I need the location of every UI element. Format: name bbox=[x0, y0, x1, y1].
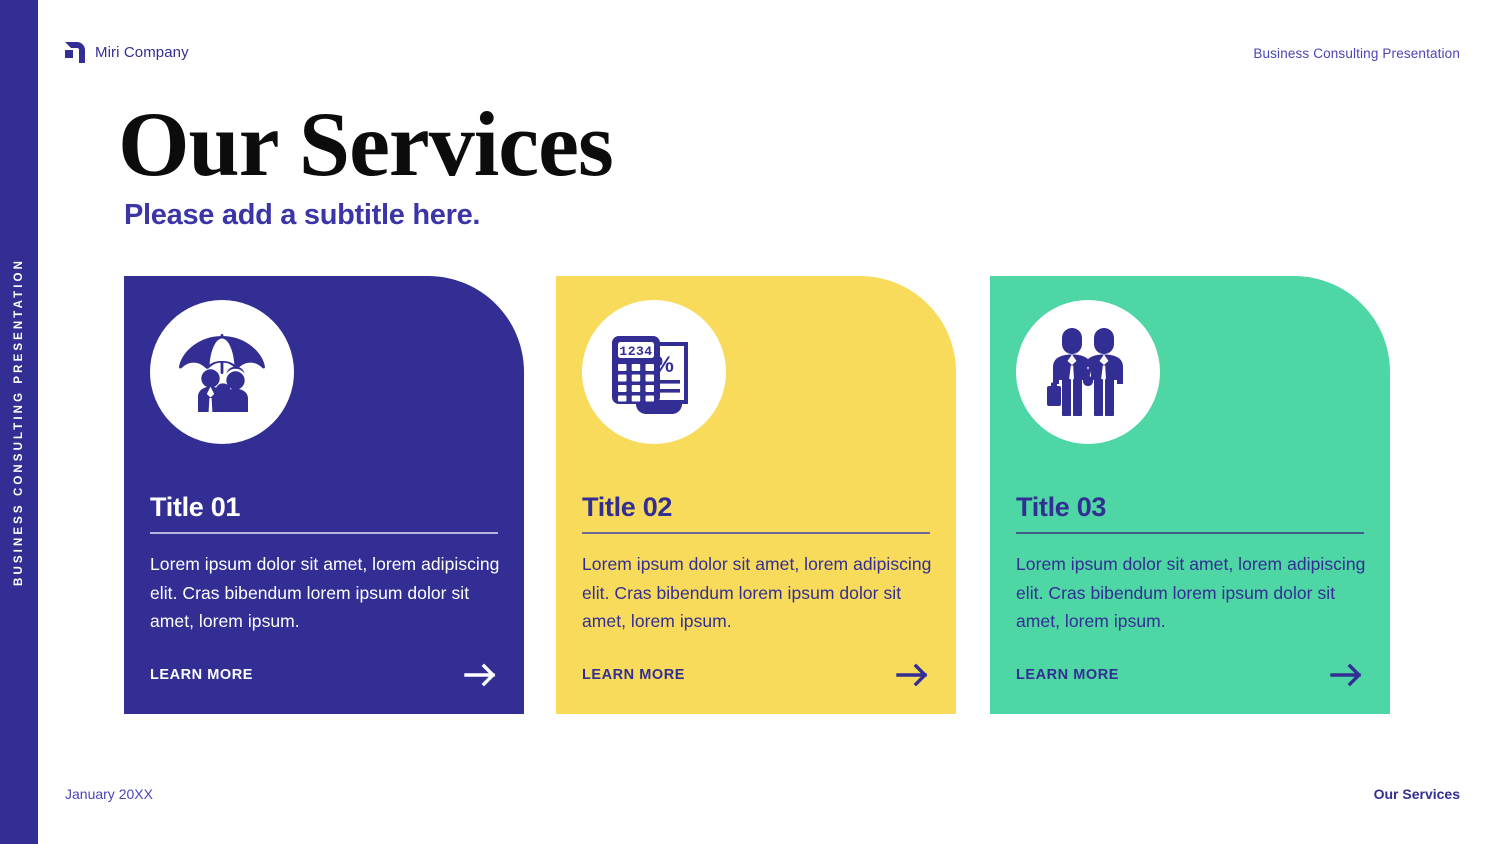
arrow-right-icon bbox=[896, 662, 930, 688]
service-card-2-title: Title 02 bbox=[582, 492, 672, 523]
arrow-right-icon bbox=[1330, 662, 1364, 688]
service-card-3-cta-label: LEARN MORE bbox=[1016, 667, 1119, 683]
service-card-1-cta-label: LEARN MORE bbox=[150, 667, 253, 683]
service-card-2-cta-label: LEARN MORE bbox=[582, 667, 685, 683]
service-card-3-cta[interactable]: LEARN MORE bbox=[1016, 662, 1364, 688]
footer-section-label: Our Services bbox=[1374, 786, 1460, 802]
service-icon-badge-2: % 1234 bbox=[582, 300, 726, 444]
service-icon-badge-1 bbox=[150, 300, 294, 444]
service-card-1[interactable]: Title 01 Lorem ipsum dolor sit amet, lor… bbox=[124, 276, 524, 714]
slide-header: Miri Company Business Consulting Present… bbox=[0, 42, 1500, 72]
brand-name-label: Miri Company bbox=[95, 44, 189, 61]
service-card-2[interactable]: % 1234 bbox=[556, 276, 956, 714]
family-umbrella-icon bbox=[172, 322, 272, 422]
service-card-1-body: Lorem ipsum dolor sit amet, lorem adipis… bbox=[150, 550, 502, 636]
page-title: Our Services bbox=[118, 98, 613, 190]
business-handshake-icon bbox=[1040, 324, 1136, 420]
service-card-1-cta[interactable]: LEARN MORE bbox=[150, 662, 498, 688]
arrow-right-icon bbox=[464, 662, 498, 688]
service-card-3-body: Lorem ipsum dolor sit amet, lorem adipis… bbox=[1016, 550, 1368, 636]
service-card-1-divider bbox=[150, 532, 498, 534]
service-card-3-divider bbox=[1016, 532, 1364, 534]
calculator-receipt-icon: % 1234 bbox=[606, 326, 702, 418]
brand-logo[interactable]: Miri Company bbox=[65, 42, 189, 63]
service-card-1-title: Title 01 bbox=[150, 492, 240, 523]
svg-text:1234: 1234 bbox=[619, 344, 652, 359]
header-subtitle: Business Consulting Presentation bbox=[1253, 46, 1460, 61]
service-card-3-title: Title 03 bbox=[1016, 492, 1106, 523]
footer-date: January 20XX bbox=[65, 786, 153, 802]
service-card-2-cta[interactable]: LEARN MORE bbox=[582, 662, 930, 688]
miri-logo-mark-icon bbox=[65, 42, 85, 63]
page-subtitle: Please add a subtitle here. bbox=[124, 199, 480, 232]
service-card-3[interactable]: Title 03 Lorem ipsum dolor sit amet, lor… bbox=[990, 276, 1390, 714]
service-icon-badge-3 bbox=[1016, 300, 1160, 444]
service-card-2-divider bbox=[582, 532, 930, 534]
service-card-2-body: Lorem ipsum dolor sit amet, lorem adipis… bbox=[582, 550, 934, 636]
side-bar-label: BUSINESS CONSULTING PRESENTATION bbox=[13, 258, 25, 586]
left-accent-bar: BUSINESS CONSULTING PRESENTATION bbox=[0, 0, 38, 844]
